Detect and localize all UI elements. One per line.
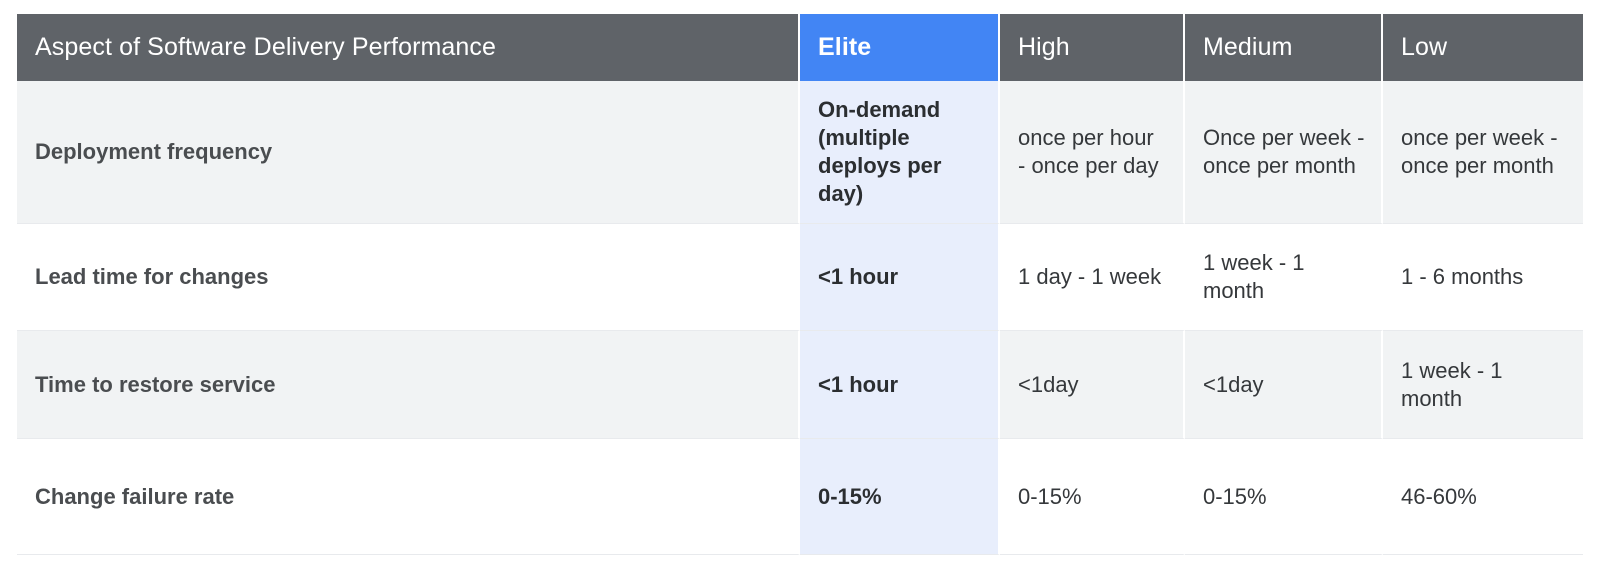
cell-low-deployment-frequency: once per week - once per month	[1383, 81, 1583, 224]
cell-high-deployment-frequency: once per hour - once per day	[1000, 81, 1185, 224]
cell-medium-time-to-restore-service: <1day	[1185, 331, 1383, 439]
table-body: Deployment frequency On-demand (multiple…	[17, 81, 1583, 555]
table-row: Time to restore service <1 hour <1day <1…	[17, 331, 1583, 439]
cell-elite-deployment-frequency: On-demand (multiple deploys per day)	[800, 81, 1000, 224]
table-row: Change failure rate 0-15% 0-15% 0-15% 46…	[17, 439, 1583, 555]
column-header-elite: Elite	[800, 14, 1000, 81]
cell-low-change-failure-rate: 46-60%	[1383, 439, 1583, 555]
cell-aspect-deployment-frequency: Deployment frequency	[17, 81, 800, 224]
table-header-row: Aspect of Software Delivery Performance …	[17, 14, 1583, 81]
table-row: Deployment frequency On-demand (multiple…	[17, 81, 1583, 224]
cell-aspect-time-to-restore-service: Time to restore service	[17, 331, 800, 439]
cell-elite-change-failure-rate: 0-15%	[800, 439, 1000, 555]
cell-elite-time-to-restore-service: <1 hour	[800, 331, 1000, 439]
cell-low-lead-time-for-changes: 1 - 6 months	[1383, 224, 1583, 331]
cell-high-lead-time-for-changes: 1 day - 1 week	[1000, 224, 1185, 331]
software-delivery-performance-table: Aspect of Software Delivery Performance …	[17, 14, 1583, 555]
cell-high-change-failure-rate: 0-15%	[1000, 439, 1185, 555]
column-header-aspect: Aspect of Software Delivery Performance	[17, 14, 800, 81]
column-header-low: Low	[1383, 14, 1583, 81]
cell-low-time-to-restore-service: 1 week - 1 month	[1383, 331, 1583, 439]
table-row: Lead time for changes <1 hour 1 day - 1 …	[17, 224, 1583, 331]
cell-medium-lead-time-for-changes: 1 week - 1 month	[1185, 224, 1383, 331]
software-delivery-performance-table-container: Aspect of Software Delivery Performance …	[17, 14, 1583, 555]
cell-aspect-lead-time-for-changes: Lead time for changes	[17, 224, 800, 331]
cell-aspect-change-failure-rate: Change failure rate	[17, 439, 800, 555]
table-header: Aspect of Software Delivery Performance …	[17, 14, 1583, 81]
column-header-medium: Medium	[1185, 14, 1383, 81]
cell-elite-lead-time-for-changes: <1 hour	[800, 224, 1000, 331]
column-header-high: High	[1000, 14, 1185, 81]
cell-high-time-to-restore-service: <1day	[1000, 331, 1185, 439]
cell-medium-deployment-frequency: Once per week - once per month	[1185, 81, 1383, 224]
cell-medium-change-failure-rate: 0-15%	[1185, 439, 1383, 555]
